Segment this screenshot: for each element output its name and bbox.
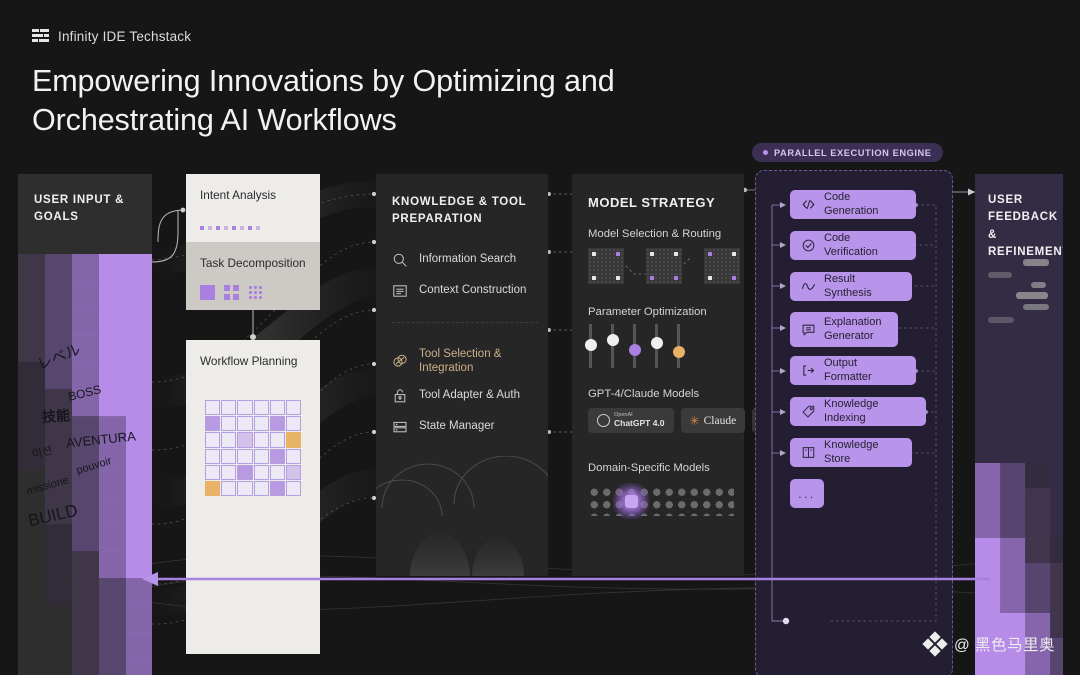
parameter-slider[interactable] [633,324,636,368]
node-box[interactable] [646,248,682,284]
parameter-slider[interactable] [655,324,658,368]
book-shelf-icon [801,445,816,460]
task-knowledge-indexing[interactable]: Knowledge Indexing [790,397,926,426]
section-label-parameter-optimization: Parameter Optimization [588,306,707,318]
matrix-cell [205,449,220,464]
page-title: Empowering Innovations by Optimizing and… [32,62,732,139]
stage-model-strategy[interactable]: MODEL STRATEGY Model Selection & Routing… [572,174,744,576]
model-node-boxes [588,248,740,284]
input-word: BOSS [67,382,103,404]
task-label: Result Synthesis [824,273,901,299]
multilingual-word-cloud: レベルBOSS技能미션AVENTURApouvoirmissioneBUILD [18,254,152,675]
matrix-cell [254,481,269,496]
knowledge-divider [392,322,538,323]
input-word: 미션 [30,442,54,462]
code-brackets-icon [801,197,816,212]
active-model-glow [613,483,649,519]
matrix-cell [286,416,301,431]
matrix-cell [237,465,252,480]
node-box[interactable] [588,248,624,284]
matrix-cell [221,416,236,431]
slider-handle[interactable] [651,337,663,349]
brand-name: Infinity IDE Techstack [58,29,191,44]
stage-parallel-execution[interactable]: Code Generation Code Verification Result… [755,170,953,675]
stacked-layers-icon [32,28,49,45]
stage-model-strategy-title: MODEL STRATEGY [572,174,744,213]
stage-user-input[interactable]: USER INPUT & GOALS レベルBOSS技能미션AVENTURApo… [18,174,152,675]
parameter-slider[interactable] [611,324,614,368]
matrix-cell [237,400,252,415]
task-result-synthesis[interactable]: Result Synthesis [790,272,912,301]
input-word: レベル [34,338,84,374]
matrix-cell [254,400,269,415]
feedback-bar [1023,259,1049,266]
stage-user-feedback[interactable]: USER FEEDBACK & REFINEMENT [975,174,1063,675]
knowledge-item-information-search[interactable]: Information Search [392,244,542,275]
task-label: Knowledge Store [824,439,901,465]
matrix-cell [286,449,301,464]
matrix-cell [270,432,285,447]
matrix-cell [237,416,252,431]
stage-user-input-title: USER INPUT & GOALS [18,174,152,225]
matrix-cell [254,416,269,431]
matrix-cell [254,449,269,464]
dot-sequence-icon [200,226,260,230]
slider-handle[interactable] [585,339,597,351]
sine-wave-icon [801,279,816,294]
matrix-cell [286,432,301,447]
matrix-cell [270,465,285,480]
matrix-cell [286,465,301,480]
matrix-cell [270,481,285,496]
three-block-icons [200,285,263,300]
tag-icon [801,404,816,419]
speech-equals-icon [801,322,816,337]
page-header: Infinity IDE Techstack Empowering Innova… [32,28,732,139]
openai-icon [597,414,610,427]
feedback-bar [1031,282,1046,288]
knowledge-item-tool-selection[interactable]: Tool Selection & Integration [392,342,542,380]
parameter-slider[interactable] [677,324,680,368]
stage-knowledge-tools-title: KNOWLEDGE & TOOL PREPARATION [376,174,548,227]
matrix-cell [221,481,236,496]
parameter-slider[interactable] [589,324,592,368]
badge-parallel-execution-engine: PARALLEL EXECUTION ENGINE [752,143,943,162]
bracket-arrow-icon [801,363,816,378]
feedback-bar [988,272,1012,278]
card-workflow-planning-title: Workflow Planning [186,340,320,370]
matrix-cell [237,449,252,464]
stage-user-feedback-title: USER FEEDBACK & REFINEMENT [975,174,1063,261]
matrix-cell [205,465,220,480]
task-label: Output Formatter [824,357,905,383]
document-lines-icon [392,283,408,299]
watermark: @ 黑色马里奥 [924,633,1055,655]
dot-matrix-decor [588,486,734,516]
section-label-model-selection: Model Selection & Routing [588,228,721,240]
watermark-handle: @ 黑色马里奥 [954,633,1055,655]
matrix-cell [254,465,269,480]
status-dot-icon [763,150,768,155]
section-label-gpt-claude: GPT-4/Claude Models [588,388,699,400]
arc-decor [376,456,548,576]
parameter-sliders [589,324,680,368]
feedback-arrow-icon [140,567,990,591]
knowledge-item-label: Context Construction [419,283,526,297]
lock-key-icon [392,388,408,404]
card-task-decomposition-title: Task Decomposition [186,242,320,272]
matrix-cell [237,432,252,447]
matrix-cell [221,432,236,447]
knowledge-item-tool-adapter-auth[interactable]: Tool Adapter & Auth [392,380,542,411]
task-label: Explanation Generator [824,316,887,342]
badge-claude-label: Claude [704,415,737,427]
knowledge-item-label: Information Search [419,252,516,266]
knowledge-item-context-construction[interactable]: Context Construction [392,275,542,306]
matrix-cell [270,416,285,431]
slider-handle[interactable] [607,334,619,346]
task-more[interactable]: ... [790,479,824,508]
tool-overlap-icon [392,353,408,369]
task-label: Code Generation [824,191,905,217]
task-code-generation[interactable]: Code Generation [790,190,916,219]
knowledge-item-label: Tool Adapter & Auth [419,388,520,402]
task-knowledge-store[interactable]: Knowledge Store [790,438,912,467]
claude-star-icon: ✳ [690,414,700,428]
matrix-cell [254,432,269,447]
slider-handle[interactable] [673,346,685,358]
feedback-bar [988,317,1014,323]
search-icon [392,252,408,268]
card-intent-analysis[interactable]: Intent Analysis [186,174,320,242]
feedback-bar [1023,304,1049,310]
matrix-cell [221,449,236,464]
task-label: Code Verification [824,232,905,258]
task-output-formatter[interactable]: Output Formatter [790,356,916,385]
matrix-grid-icon [205,400,301,496]
badge-claude[interactable]: ✳ Claude [681,408,746,433]
card-intent-analysis-title: Intent Analysis [186,174,320,204]
card-task-decomposition[interactable]: Task Decomposition [186,242,320,310]
matrix-cell [205,400,220,415]
input-word: BUILD [26,501,79,532]
brand: Infinity IDE Techstack [32,28,732,45]
matrix-cell [237,481,252,496]
section-label-domain-models: Domain-Specific Models [588,462,710,474]
task-code-verification[interactable]: Code Verification [790,231,916,260]
node-box[interactable] [704,248,740,284]
knowledge-item-label: State Manager [419,419,494,433]
badge-chatgpt-label: ChatGPT 4.0 [614,419,665,428]
matrix-cell [221,400,236,415]
diamond-cluster-icon [924,633,946,655]
knowledge-item-state-manager[interactable]: State Manager [392,411,542,442]
knowledge-list-primary: Information Search Context Construction [392,244,542,306]
card-workflow-planning[interactable]: Workflow Planning [186,340,320,654]
matrix-cell [205,416,220,431]
check-seal-icon [801,238,816,253]
input-word: missione [25,474,70,497]
matrix-cell [205,481,220,496]
input-word: AVENTURA [65,428,136,450]
matrix-cell [286,481,301,496]
task-label: Knowledge Indexing [824,398,915,424]
input-word: pouvoir [75,455,113,477]
matrix-cell [221,465,236,480]
matrix-cell [205,432,220,447]
workflow-diagram: USER INPUT & GOALS レベルBOSS技能미션AVENTURApo… [0,132,1080,632]
matrix-cell [270,400,285,415]
slider-handle[interactable] [629,344,641,356]
knowledge-list-secondary: Tool Selection & Integration Tool Adapte… [392,342,542,442]
matrix-cell [286,400,301,415]
feedback-bar [1016,292,1048,299]
knowledge-item-label: Tool Selection & Integration [419,347,542,376]
task-explanation-generator[interactable]: Explanation Generator [790,312,898,347]
database-stack-icon [392,419,408,435]
badge-chatgpt[interactable]: OpenAI ChatGPT 4.0 [588,408,674,433]
stage-knowledge-tools[interactable]: KNOWLEDGE & TOOL PREPARATION Information… [376,174,548,576]
badge-label: PARALLEL EXECUTION ENGINE [774,148,932,158]
input-word: 技能 [41,405,70,427]
matrix-cell [270,449,285,464]
